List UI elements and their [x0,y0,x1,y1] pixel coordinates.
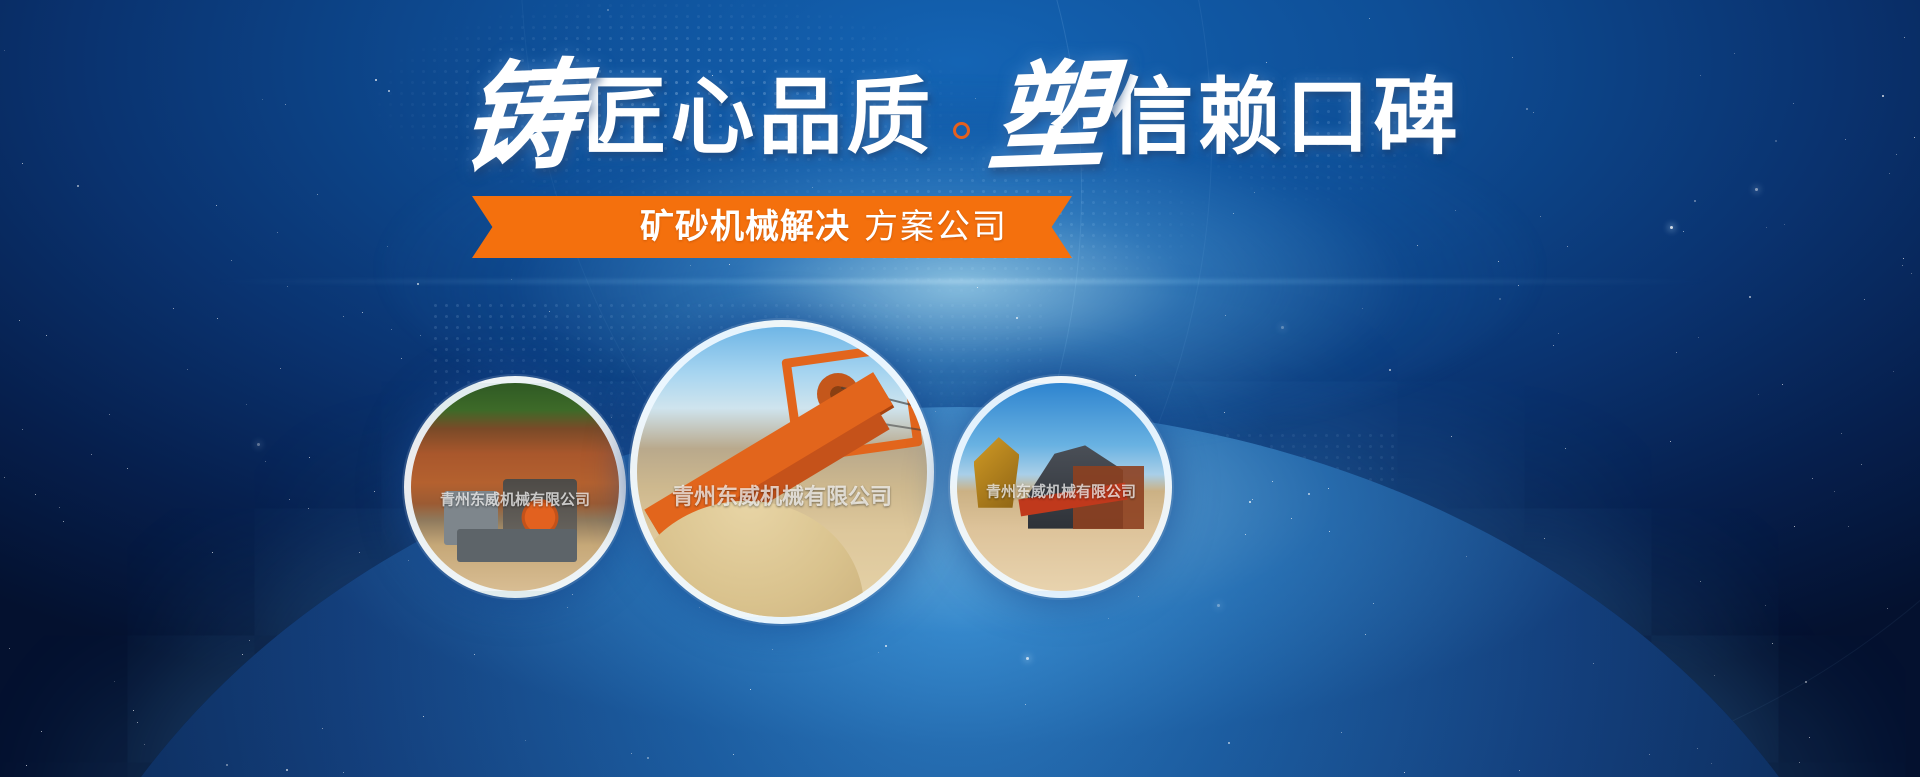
machine-part [457,529,578,562]
ribbon-text: 矿砂机械解决 方案公司 [640,210,1008,244]
headline: 铸 匠心品质 塑 信赖口碑 [0,58,1920,176]
product-photo-left[interactable]: 青州东威机械有限公司 [404,376,626,598]
headline-brush-char-2: 塑 [985,56,1110,178]
headline-text-2: 信赖口碑 [1110,75,1462,159]
ribbon-body: 矿砂机械解决 方案公司 [472,196,1072,258]
product-photo-right[interactable]: 青州东威机械有限公司 [950,376,1172,598]
circle-dot-separator-icon [953,122,970,139]
product-photo-center[interactable]: 青州东威机械有限公司 [630,320,934,624]
tagline-ribbon: 矿砂机械解决 方案公司 [0,196,1920,262]
headline-brush-char-1: 铸 [458,56,583,178]
lens-flare-streak [210,280,1710,283]
headline-text-1: 匠心品质 [582,75,934,159]
ribbon-text-bold: 矿砂机械解决 [640,210,850,244]
ribbon-text-light: 方案公司 [864,210,1008,244]
machine-part [974,437,1020,508]
hero-banner: 铸 匠心品质 塑 信赖口碑 矿砂机械解决 方案公司 青州东威机械有限公司 青州东… [0,0,1920,777]
